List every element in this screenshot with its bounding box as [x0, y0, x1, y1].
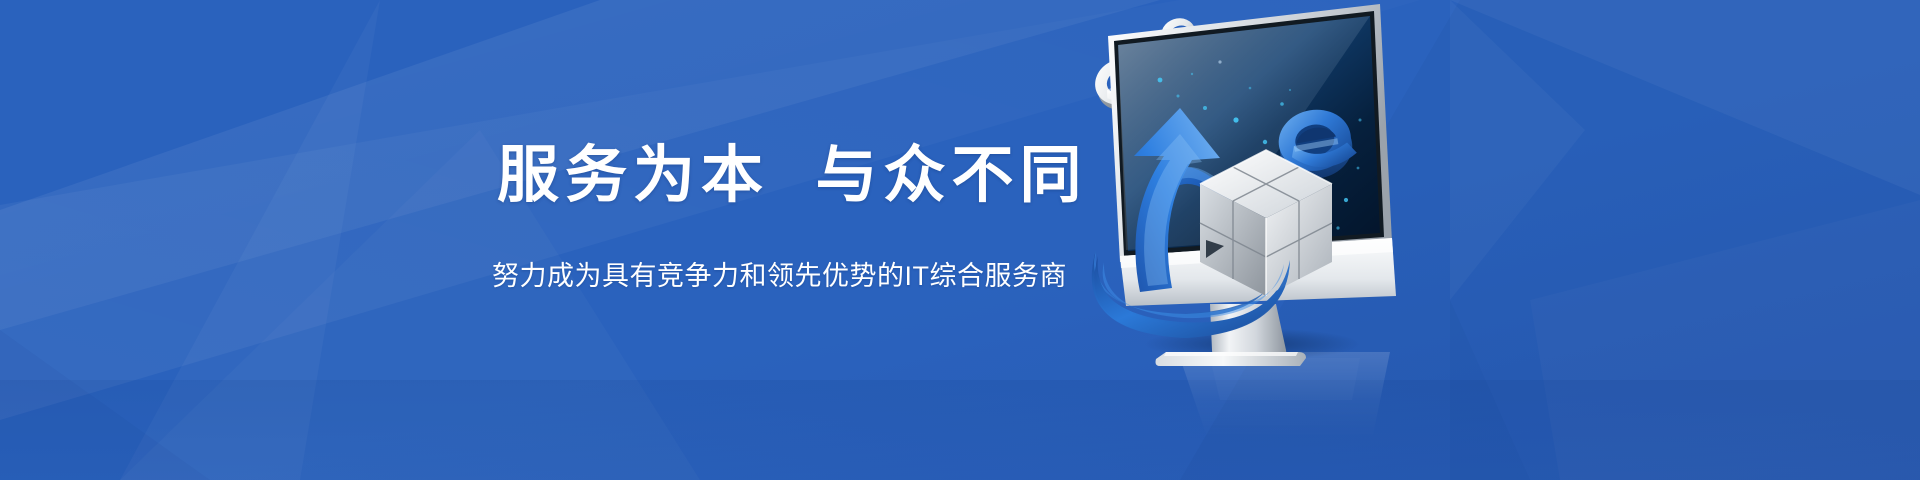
page-subtitle: 努力成为具有竞争力和领先优势的IT综合服务商	[492, 260, 1067, 292]
page-title: 服务为本 与众不同	[497, 143, 1087, 208]
banner-text-block: 服务为本 与众不同 努力成为具有竞争力和领先优势的IT综合服务商	[0, 0, 1090, 480]
hero-banner: 服务为本 与众不同 努力成为具有竞争力和领先优势的IT综合服务商	[0, 0, 1920, 480]
hero-illustration	[1060, 0, 1480, 480]
